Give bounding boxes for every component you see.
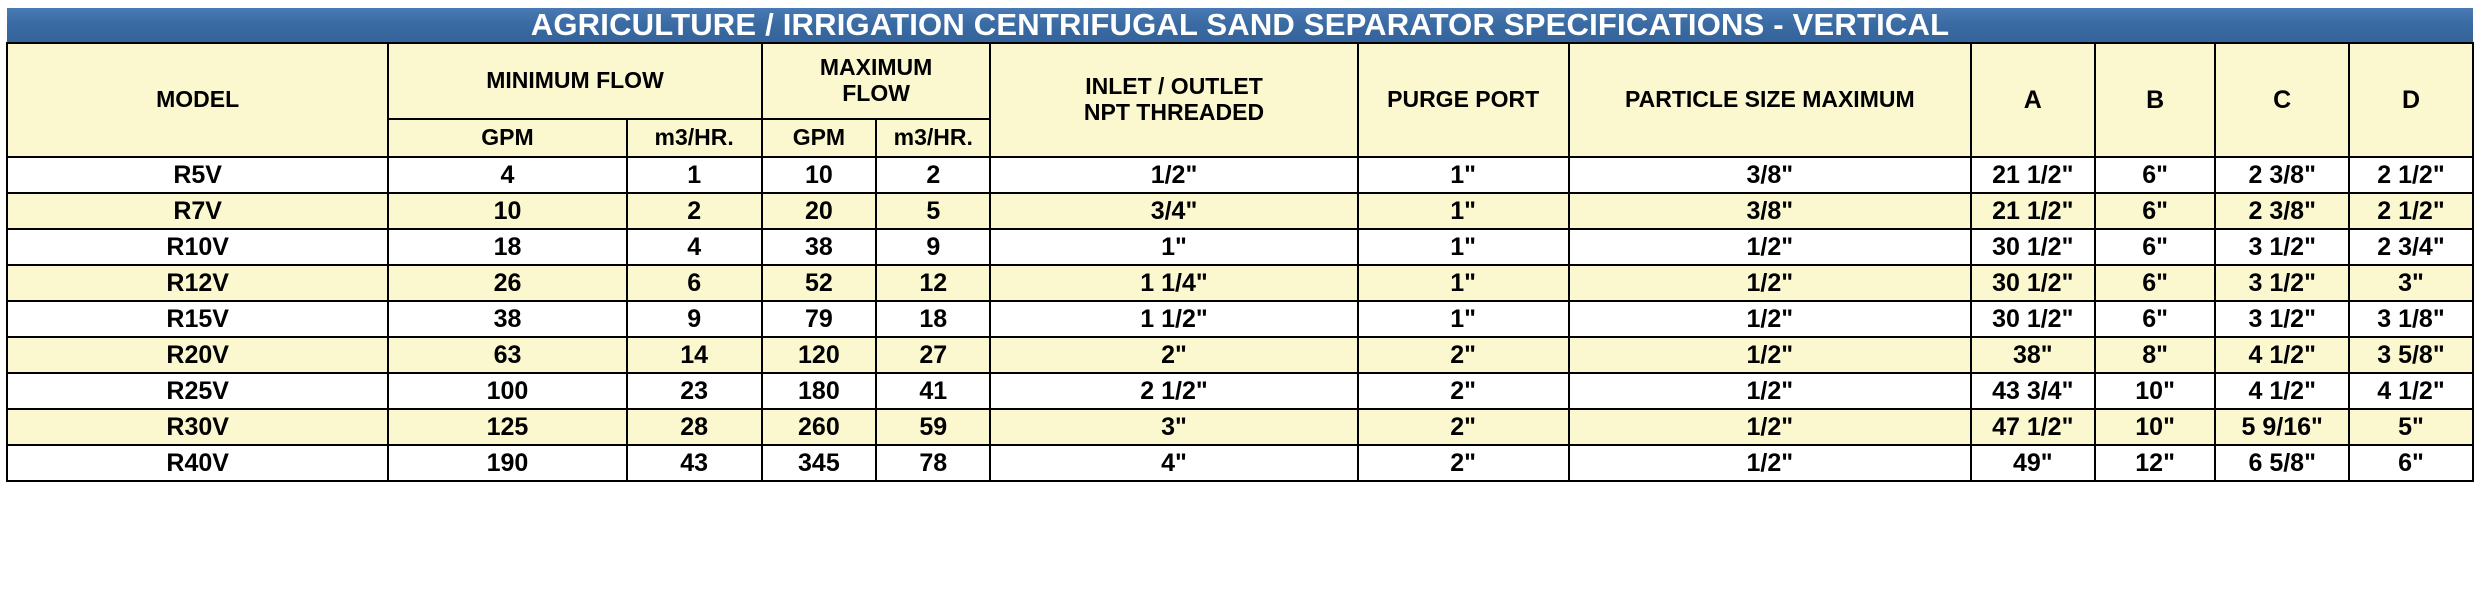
cell-purge-port: 1"	[1358, 229, 1569, 265]
cell-b: 6"	[2095, 265, 2216, 301]
cell-b: 10"	[2095, 409, 2216, 445]
cell-max-gpm: 38	[762, 229, 876, 265]
cell-d: 2 3/4"	[2349, 229, 2473, 265]
cell-d: 3 1/8"	[2349, 301, 2473, 337]
cell-particle-size: 1/2"	[1569, 373, 1971, 409]
cell-max-m3hr: 2	[876, 157, 990, 193]
cell-a: 30 1/2"	[1971, 301, 2095, 337]
cell-b: 6"	[2095, 193, 2216, 229]
cell-model: R30V	[7, 409, 388, 445]
cell-purge-port: 1"	[1358, 301, 1569, 337]
cell-particle-size: 1/2"	[1569, 229, 1971, 265]
table-row: R20V6314120272"2"1/2"38"8"4 1/2"3 5/8"	[7, 337, 2473, 373]
cell-purge-port: 1"	[1358, 193, 1569, 229]
cell-model: R12V	[7, 265, 388, 301]
cell-b: 8"	[2095, 337, 2216, 373]
table-row: R10V1843891"1"1/2"30 1/2"6"3 1/2"2 3/4"	[7, 229, 2473, 265]
cell-inlet-outlet: 2 1/2"	[990, 373, 1357, 409]
cell-d: 6"	[2349, 445, 2473, 481]
cell-max-m3hr: 9	[876, 229, 990, 265]
cell-inlet-outlet: 2"	[990, 337, 1357, 373]
cell-max-m3hr: 5	[876, 193, 990, 229]
cell-min-m3hr: 1	[627, 157, 762, 193]
cell-c: 6 5/8"	[2215, 445, 2348, 481]
table-row: R15V38979181 1/2"1"1/2"30 1/2"6"3 1/2"3 …	[7, 301, 2473, 337]
cell-a: 47 1/2"	[1971, 409, 2095, 445]
cell-c: 2 3/8"	[2215, 157, 2348, 193]
cell-max-m3hr: 78	[876, 445, 990, 481]
cell-purge-port: 2"	[1358, 445, 1569, 481]
cell-particle-size: 1/2"	[1569, 409, 1971, 445]
column-header-min-gpm: GPM	[388, 119, 626, 157]
inlet-outlet-line-2: NPT THREADED	[991, 100, 1356, 126]
table-row: R25V10023180412 1/2"2"1/2"43 3/4"10"4 1/…	[7, 373, 2473, 409]
cell-max-gpm: 52	[762, 265, 876, 301]
cell-particle-size: 1/2"	[1569, 337, 1971, 373]
cell-min-gpm: 26	[388, 265, 626, 301]
cell-inlet-outlet: 1 1/2"	[990, 301, 1357, 337]
cell-model: R40V	[7, 445, 388, 481]
cell-inlet-outlet: 4"	[990, 445, 1357, 481]
cell-particle-size: 1/2"	[1569, 301, 1971, 337]
cell-inlet-outlet: 1 1/4"	[990, 265, 1357, 301]
column-header-d: D	[2349, 43, 2473, 157]
header-row-primary: MODEL MINIMUM FLOW MAXIMUM FLOW INLET / …	[7, 43, 2473, 119]
cell-particle-size: 1/2"	[1569, 265, 1971, 301]
cell-max-gpm: 10	[762, 157, 876, 193]
cell-min-m3hr: 9	[627, 301, 762, 337]
cell-b: 6"	[2095, 157, 2216, 193]
cell-max-m3hr: 59	[876, 409, 990, 445]
cell-c: 2 3/8"	[2215, 193, 2348, 229]
cell-max-m3hr: 12	[876, 265, 990, 301]
cell-c: 3 1/2"	[2215, 229, 2348, 265]
cell-min-m3hr: 4	[627, 229, 762, 265]
cell-particle-size: 3/8"	[1569, 157, 1971, 193]
page-title: AGRICULTURE / IRRIGATION CENTRIFUGAL SAN…	[7, 8, 2473, 43]
cell-max-gpm: 260	[762, 409, 876, 445]
cell-d: 2 1/2"	[2349, 193, 2473, 229]
cell-min-gpm: 125	[388, 409, 626, 445]
cell-c: 5 9/16"	[2215, 409, 2348, 445]
column-header-minimum-flow: MINIMUM FLOW	[388, 43, 761, 119]
cell-min-m3hr: 28	[627, 409, 762, 445]
inlet-outlet-line-1: INLET / OUTLET	[991, 74, 1356, 100]
cell-inlet-outlet: 1/2"	[990, 157, 1357, 193]
column-header-maximum-flow: MAXIMUM FLOW	[762, 43, 991, 119]
cell-particle-size: 1/2"	[1569, 445, 1971, 481]
cell-inlet-outlet: 1"	[990, 229, 1357, 265]
column-header-purge-port: PURGE PORT	[1358, 43, 1569, 157]
cell-max-m3hr: 41	[876, 373, 990, 409]
table-row: R5V411021/2"1"3/8"21 1/2"6"2 3/8"2 1/2"	[7, 157, 2473, 193]
cell-max-gpm: 20	[762, 193, 876, 229]
cell-d: 2 1/2"	[2349, 157, 2473, 193]
cell-max-m3hr: 18	[876, 301, 990, 337]
cell-model: R15V	[7, 301, 388, 337]
table-body: R5V411021/2"1"3/8"21 1/2"6"2 3/8"2 1/2"R…	[7, 157, 2473, 481]
cell-model: R25V	[7, 373, 388, 409]
cell-min-gpm: 100	[388, 373, 626, 409]
cell-d: 3"	[2349, 265, 2473, 301]
cell-min-m3hr: 2	[627, 193, 762, 229]
column-header-b: B	[2095, 43, 2216, 157]
cell-model: R7V	[7, 193, 388, 229]
table-row: R40V19043345784"2"1/2"49"12"6 5/8"6"	[7, 445, 2473, 481]
cell-a: 43 3/4"	[1971, 373, 2095, 409]
specifications-table: AGRICULTURE / IRRIGATION CENTRIFUGAL SAN…	[6, 8, 2474, 482]
maximum-flow-line-2: FLOW	[763, 81, 990, 107]
cell-c: 4 1/2"	[2215, 337, 2348, 373]
cell-max-gpm: 79	[762, 301, 876, 337]
column-header-c: C	[2215, 43, 2348, 157]
cell-min-m3hr: 14	[627, 337, 762, 373]
cell-a: 49"	[1971, 445, 2095, 481]
table-header: AGRICULTURE / IRRIGATION CENTRIFUGAL SAN…	[7, 8, 2473, 157]
column-header-a: A	[1971, 43, 2095, 157]
cell-c: 3 1/2"	[2215, 301, 2348, 337]
cell-purge-port: 1"	[1358, 265, 1569, 301]
cell-a: 30 1/2"	[1971, 229, 2095, 265]
table-row: R7V1022053/4"1"3/8"21 1/2"6"2 3/8"2 1/2"	[7, 193, 2473, 229]
cell-c: 3 1/2"	[2215, 265, 2348, 301]
cell-d: 4 1/2"	[2349, 373, 2473, 409]
maximum-flow-line-1: MAXIMUM	[763, 55, 990, 81]
column-header-model: MODEL	[7, 43, 388, 157]
table-row: R30V12528260593"2"1/2"47 1/2"10"5 9/16"5…	[7, 409, 2473, 445]
cell-min-gpm: 190	[388, 445, 626, 481]
cell-min-gpm: 4	[388, 157, 626, 193]
cell-purge-port: 2"	[1358, 373, 1569, 409]
column-header-min-m3hr: m3/HR.	[627, 119, 762, 157]
cell-inlet-outlet: 3/4"	[990, 193, 1357, 229]
cell-max-gpm: 180	[762, 373, 876, 409]
cell-b: 10"	[2095, 373, 2216, 409]
cell-a: 30 1/2"	[1971, 265, 2095, 301]
cell-model: R10V	[7, 229, 388, 265]
cell-d: 3 5/8"	[2349, 337, 2473, 373]
table-row: R12V26652121 1/4"1"1/2"30 1/2"6"3 1/2"3"	[7, 265, 2473, 301]
cell-max-gpm: 345	[762, 445, 876, 481]
column-header-max-gpm: GPM	[762, 119, 876, 157]
cell-model: R5V	[7, 157, 388, 193]
cell-particle-size: 3/8"	[1569, 193, 1971, 229]
cell-max-m3hr: 27	[876, 337, 990, 373]
column-header-particle-size-maximum: PARTICLE SIZE MAXIMUM	[1569, 43, 1971, 157]
cell-b: 6"	[2095, 301, 2216, 337]
cell-d: 5"	[2349, 409, 2473, 445]
cell-min-gpm: 38	[388, 301, 626, 337]
cell-a: 21 1/2"	[1971, 193, 2095, 229]
cell-min-gpm: 10	[388, 193, 626, 229]
cell-a: 21 1/2"	[1971, 157, 2095, 193]
cell-min-m3hr: 23	[627, 373, 762, 409]
cell-min-m3hr: 6	[627, 265, 762, 301]
column-header-max-m3hr: m3/HR.	[876, 119, 990, 157]
cell-a: 38"	[1971, 337, 2095, 373]
cell-b: 12"	[2095, 445, 2216, 481]
cell-min-m3hr: 43	[627, 445, 762, 481]
column-header-inlet-outlet: INLET / OUTLET NPT THREADED	[990, 43, 1357, 157]
cell-purge-port: 1"	[1358, 157, 1569, 193]
cell-c: 4 1/2"	[2215, 373, 2348, 409]
cell-max-gpm: 120	[762, 337, 876, 373]
cell-min-gpm: 18	[388, 229, 626, 265]
spec-sheet: AGRICULTURE / IRRIGATION CENTRIFUGAL SAN…	[0, 0, 2480, 591]
cell-model: R20V	[7, 337, 388, 373]
cell-purge-port: 2"	[1358, 409, 1569, 445]
cell-b: 6"	[2095, 229, 2216, 265]
cell-inlet-outlet: 3"	[990, 409, 1357, 445]
cell-purge-port: 2"	[1358, 337, 1569, 373]
cell-min-gpm: 63	[388, 337, 626, 373]
title-banner-row: AGRICULTURE / IRRIGATION CENTRIFUGAL SAN…	[7, 8, 2473, 43]
